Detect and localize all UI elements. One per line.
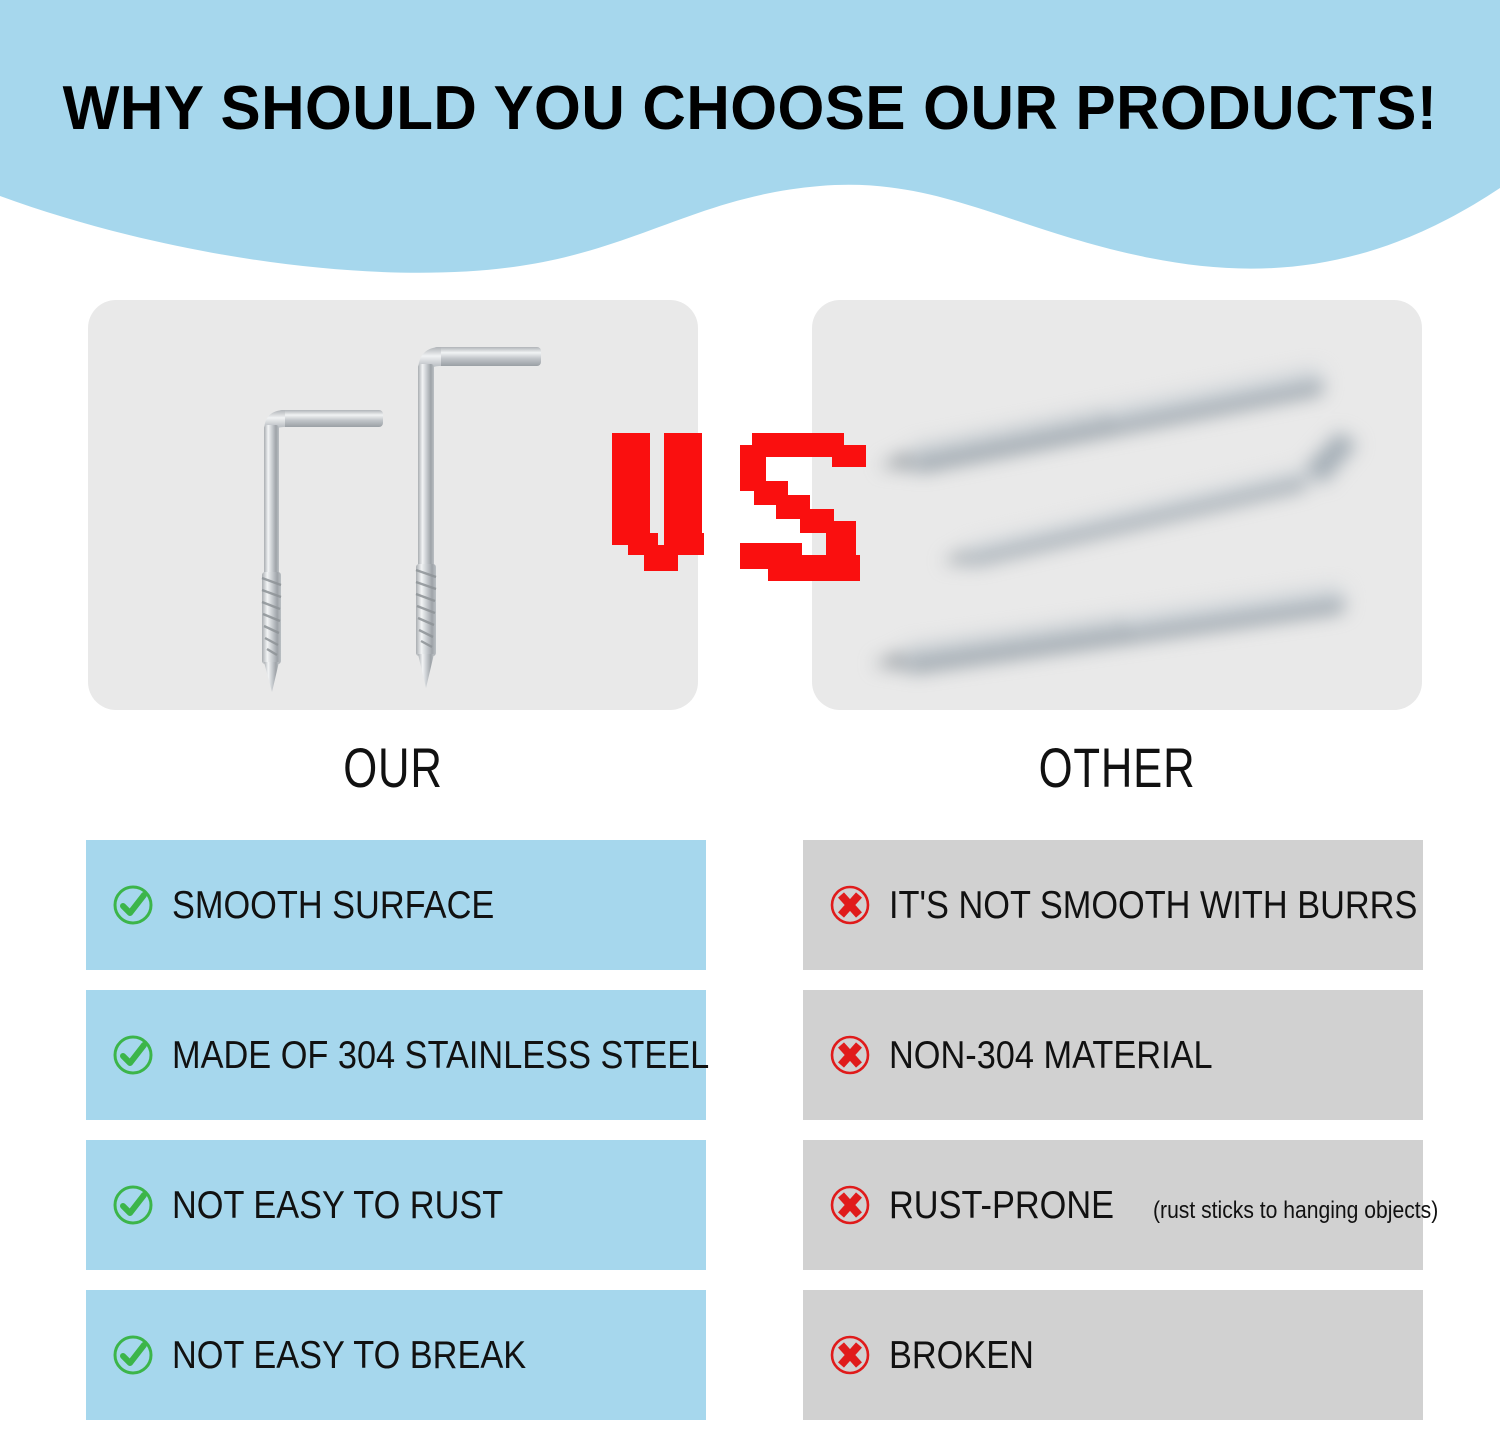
list-item: NOT EASY TO RUST xyxy=(86,1140,706,1270)
other-column-heading: OTHER xyxy=(879,740,1355,796)
list-item: SMOOTH SURFACE xyxy=(86,840,706,970)
list-item: MADE OF 304 STAINLESS STEEL xyxy=(86,990,706,1120)
page-title: WHY SHOULD YOU CHOOSE OUR PRODUCTS! xyxy=(23,78,1478,140)
feature-label: RUST-PRONE xyxy=(889,1186,1114,1225)
feature-label: IT'S NOT SMOOTH WITH BURRS xyxy=(889,886,1417,925)
feature-label: NON-304 MATERIAL xyxy=(889,1036,1213,1075)
our-column-heading: OUR xyxy=(155,740,631,796)
check-circle-icon xyxy=(112,1334,154,1376)
list-item: NOT EASY TO BREAK xyxy=(86,1290,706,1420)
list-item: NON-304 MATERIAL xyxy=(803,990,1423,1120)
feature-label: MADE OF 304 STAINLESS STEEL xyxy=(172,1036,709,1075)
vs-pixelated-text xyxy=(604,425,904,600)
our-feature-list: SMOOTH SURFACE MADE OF 304 STAINLESS STE… xyxy=(86,840,706,1440)
list-item: RUST-PRONE (rust sticks to hanging objec… xyxy=(803,1140,1423,1270)
check-circle-icon xyxy=(112,884,154,926)
x-circle-icon xyxy=(829,1184,871,1226)
x-circle-icon xyxy=(829,1334,871,1376)
feature-label: NOT EASY TO BREAK xyxy=(172,1336,526,1375)
vs-badge xyxy=(604,425,904,600)
feature-note: (rust sticks to hanging objects) xyxy=(1153,1199,1438,1223)
list-item: IT'S NOT SMOOTH WITH BURRS xyxy=(803,840,1423,970)
feature-label: BROKEN xyxy=(889,1336,1034,1375)
list-item: BROKEN xyxy=(803,1290,1423,1420)
check-circle-icon xyxy=(112,1034,154,1076)
header-banner: WHY SHOULD YOU CHOOSE OUR PRODUCTS! xyxy=(0,0,1500,275)
check-circle-icon xyxy=(112,1184,154,1226)
x-circle-icon xyxy=(829,1034,871,1076)
x-circle-icon xyxy=(829,884,871,926)
other-feature-list: IT'S NOT SMOOTH WITH BURRS NON-304 MATER… xyxy=(803,840,1423,1440)
feature-label: SMOOTH SURFACE xyxy=(172,886,494,925)
feature-label: NOT EASY TO RUST xyxy=(172,1186,503,1225)
